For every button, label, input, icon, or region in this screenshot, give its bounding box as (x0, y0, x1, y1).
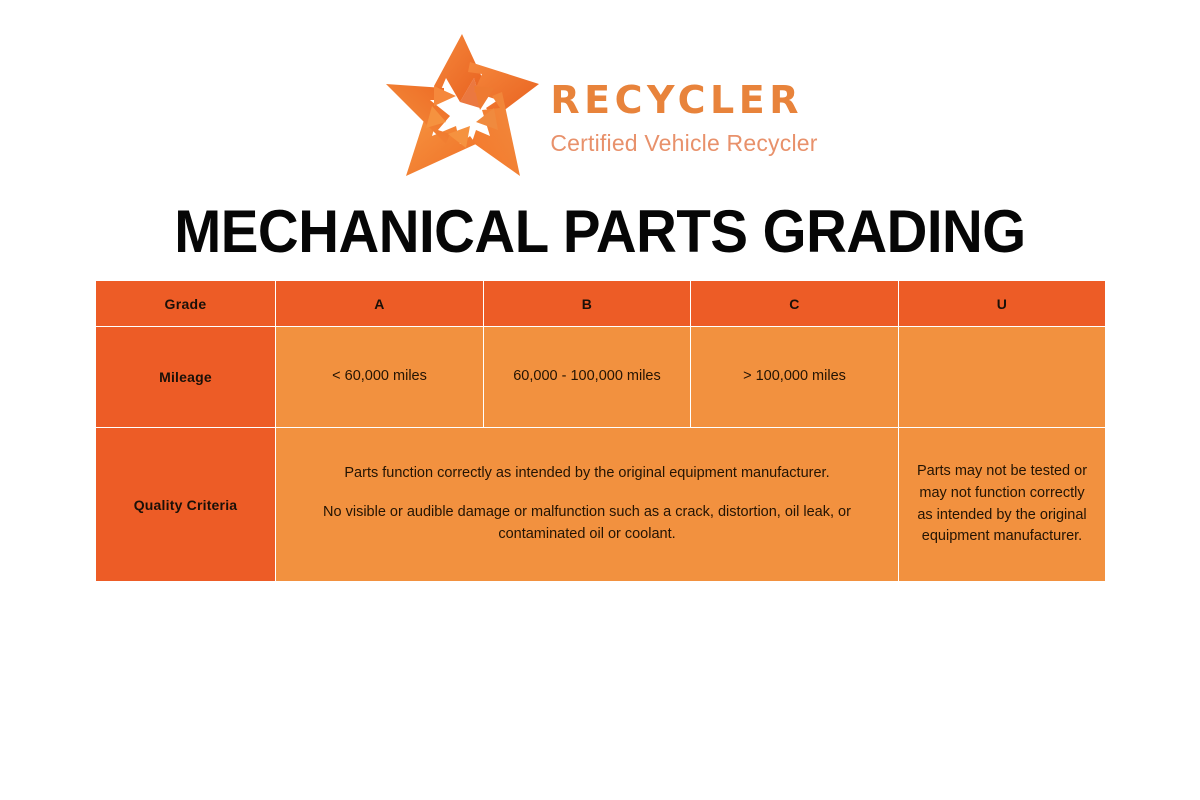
brand-tagline: Certified Vehicle Recycler (550, 132, 817, 155)
column-header-b: B (484, 281, 691, 327)
table-header: Grade A B C U (96, 281, 1106, 327)
cell-quality-criteria-abc: Parts function correctly as intended by … (276, 428, 899, 582)
table-row-quality-criteria: Quality Criteria Parts function correctl… (96, 428, 1106, 582)
quality-criteria-line-2: No visible or audible damage or malfunct… (294, 502, 880, 546)
cell-mileage-a: < 60,000 miles (276, 327, 484, 428)
column-header-u: U (899, 281, 1106, 327)
row-label-mileage: Mileage (96, 327, 276, 428)
row-label-quality-criteria: Quality Criteria (96, 428, 276, 582)
document-page: RECYCLER Certified Vehicle Recycler MECH… (0, 0, 1200, 800)
cell-mileage-c: > 100,000 miles (691, 327, 899, 428)
table-row-mileage: Mileage < 60,000 miles 60,000 - 100,000 … (96, 327, 1106, 428)
page-title: MECHANICAL PARTS GRADING (36, 196, 1164, 268)
table-body: Mileage < 60,000 miles 60,000 - 100,000 … (96, 327, 1106, 582)
cell-quality-criteria-u: Parts may not be tested or may not funct… (899, 428, 1106, 582)
mechanical-parts-grading-table: Grade A B C U Mileage < 60,000 miles 60,… (95, 280, 1106, 582)
column-header-a: A (276, 281, 484, 327)
cell-mileage-u (899, 327, 1106, 428)
recycler-star-logo-icon (382, 30, 542, 180)
logo-inner: RECYCLER Certified Vehicle Recycler (382, 30, 817, 180)
cell-mileage-b: 60,000 - 100,000 miles (484, 327, 691, 428)
quality-criteria-line-1: Parts function correctly as intended by … (294, 463, 880, 485)
column-header-grade: Grade (96, 281, 276, 327)
logo-wordmark: RECYCLER Certified Vehicle Recycler (550, 55, 817, 155)
table-header-row: Grade A B C U (96, 281, 1106, 327)
column-header-c: C (691, 281, 899, 327)
brand-name: RECYCLER (550, 81, 817, 119)
brand-logo: RECYCLER Certified Vehicle Recycler (0, 30, 1200, 180)
